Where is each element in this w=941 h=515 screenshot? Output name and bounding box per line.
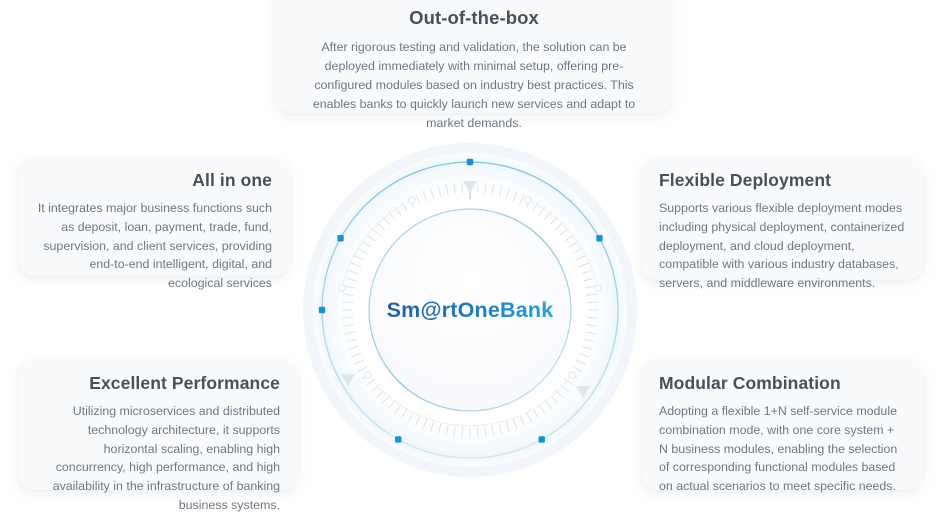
tick-mark — [462, 427, 463, 438]
card-title-all-in-one: All in one — [36, 170, 272, 192]
arc-endpoint-dot — [525, 197, 531, 203]
ring-node-dot — [319, 307, 325, 313]
tick-mark — [587, 302, 598, 303]
card-body-modular-combination: Adopting a flexible 1+N self-service mod… — [659, 402, 905, 496]
ring-node-dot — [596, 235, 602, 241]
infographic-stage: Sm@rtOneBank Out-of-the-box After rigoro… — [0, 0, 941, 500]
arc-endpoint-dot — [569, 372, 575, 378]
tick-mark — [587, 317, 598, 318]
inner-ring — [369, 209, 571, 411]
arc-endpoint-dot — [365, 372, 371, 378]
arc-endpoint-dot — [595, 285, 601, 291]
feature-card-modular-combination[interactable]: Modular Combination Adopting a flexible … — [641, 360, 923, 490]
tick-mark — [477, 182, 478, 193]
card-title-flexible-deployment: Flexible Deployment — [659, 170, 905, 192]
card-title-out-of-the-box: Out-of-the-box — [299, 6, 649, 29]
ring-node-dot — [395, 436, 401, 442]
ring-node-dot — [467, 159, 473, 165]
feature-card-all-in-one[interactable]: All in one It integrates major business … — [18, 158, 290, 276]
circular-rings-svg — [300, 140, 640, 480]
tick-mark — [342, 317, 353, 318]
card-body-flexible-deployment: Supports various flexible deployment mod… — [659, 199, 905, 293]
card-body-out-of-the-box: After rigorous testing and validation, t… — [299, 38, 649, 132]
feature-card-flexible-deployment[interactable]: Flexible Deployment Supports various fle… — [641, 158, 923, 280]
feature-card-out-of-the-box[interactable]: Out-of-the-box After rigorous testing an… — [275, 0, 673, 113]
card-title-excellent-performance: Excellent Performance — [36, 373, 280, 395]
ring-node-dot — [337, 235, 343, 241]
central-circular-graphic: Sm@rtOneBank — [300, 140, 640, 480]
tick-mark — [462, 182, 463, 193]
arc-endpoint-dot — [339, 285, 345, 291]
arc-endpoint-dot — [409, 197, 415, 203]
tick-mark — [342, 302, 353, 303]
ring-node-dot — [539, 436, 545, 442]
card-body-all-in-one: It integrates major business functions s… — [36, 199, 272, 293]
card-title-modular-combination: Modular Combination — [659, 373, 905, 395]
feature-card-excellent-performance[interactable]: Excellent Performance Utilizing microser… — [18, 360, 298, 490]
card-body-excellent-performance: Utilizing microservices and distributed … — [36, 402, 280, 515]
tick-mark — [477, 427, 478, 438]
